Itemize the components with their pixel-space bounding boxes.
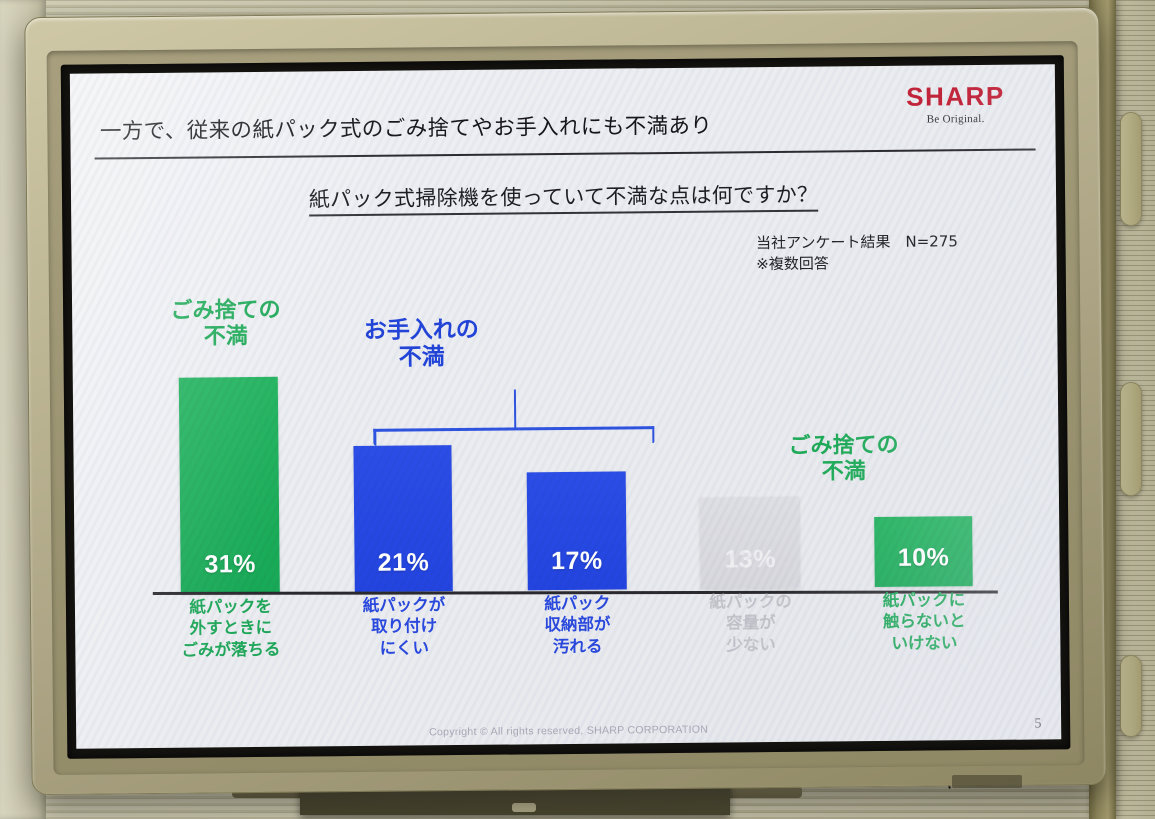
category-label-2-line1: 紙パックが bbox=[317, 594, 491, 617]
category-label-4-line1: 紙パックの bbox=[664, 591, 838, 614]
category-label-4-line2: 容量が bbox=[664, 612, 838, 635]
category-label-3: 紙パック収納部が汚れる bbox=[491, 592, 665, 657]
bar-2[interactable]: 21% bbox=[353, 445, 453, 592]
bar-column-5: 10% bbox=[835, 335, 1011, 588]
copyright-text: Copyright © All rights reserved, SHARP C… bbox=[76, 721, 1061, 742]
category-label-5: 紙パックに触らないといけない bbox=[837, 589, 1011, 654]
category-label-4-line3: 少ない bbox=[664, 633, 838, 656]
bar-chart: 31%21%17%13%10% 紙パックを外すときにごみが落ちる紙パックが取り付… bbox=[141, 335, 1011, 667]
survey-question: 紙パック式掃除機を使っていて不満な点は何ですか？ bbox=[71, 176, 1056, 215]
annotation-left-line1: ごみ捨ての bbox=[171, 298, 281, 325]
page-number: 5 bbox=[1034, 717, 1041, 733]
slide-content: SHARP Be Original. 一方で、従来の紙パック式のごみ捨てやお手入… bbox=[70, 64, 1061, 748]
survey-question-text: 紙パック式掃除機を使っていて不満な点は何ですか？ bbox=[309, 183, 819, 217]
presentation-display: SHARP Be Original. 一方で、従来の紙パック式のごみ捨てやお手入… bbox=[24, 7, 1106, 795]
sharp-logo: SHARP Be Original. bbox=[880, 81, 1030, 126]
bar-column-4: 13% bbox=[661, 336, 837, 589]
bar-3[interactable]: 17% bbox=[527, 471, 627, 591]
category-label-1: 紙パックを外すときにごみが落ちる bbox=[144, 596, 318, 661]
bar-value-label-3: 17% bbox=[551, 547, 603, 590]
title-divider bbox=[94, 148, 1036, 159]
slide-screen: SHARP Be Original. 一方で、従来の紙パック式のごみ捨てやお手入… bbox=[70, 64, 1061, 748]
bar-column-3: 17% bbox=[488, 338, 664, 591]
window-handle-icon bbox=[1120, 382, 1142, 496]
category-label-5-line3: いけない bbox=[838, 631, 1012, 654]
bar-column-1: 31% bbox=[141, 341, 317, 594]
category-label-3-line3: 汚れる bbox=[491, 635, 665, 658]
bar-4[interactable]: 13% bbox=[700, 497, 800, 589]
category-label-5-line1: 紙パックに bbox=[837, 589, 1011, 612]
bar-value-label-4: 13% bbox=[724, 545, 776, 588]
slide-title-band: 一方で、従来の紙パック式のごみ捨てやお手入れにも不満あり bbox=[100, 107, 869, 145]
bar-column-2: 21% bbox=[315, 340, 491, 593]
bar-5[interactable]: 10% bbox=[874, 516, 973, 587]
category-label-1-line3: ごみが落ちる bbox=[144, 638, 318, 661]
category-label-5-line2: 触らないと bbox=[837, 610, 1011, 633]
category-label-4: 紙パックの容量が少ない bbox=[664, 591, 838, 656]
survey-note-line2: ※複数回答 bbox=[756, 253, 958, 276]
survey-note-line1: 当社アンケート結果 N=275 bbox=[756, 231, 958, 254]
survey-note: 当社アンケート結果 N=275 ※複数回答 bbox=[756, 231, 958, 276]
category-label-1-line1: 紙パックを bbox=[144, 596, 318, 619]
bar-1[interactable]: 31% bbox=[179, 377, 280, 594]
category-label-2-line3: にくい bbox=[318, 636, 492, 659]
tv-stand-port bbox=[512, 803, 536, 812]
category-label-3-line1: 紙パック bbox=[491, 592, 665, 615]
bar-value-label-2: 21% bbox=[378, 549, 430, 592]
category-label-2: 紙パックが取り付けにくい bbox=[317, 594, 491, 659]
window-handle-icon bbox=[1120, 112, 1142, 226]
category-label-group: 紙パックを外すときにごみが落ちる紙パックが取り付けにくい紙パック収納部が汚れる紙… bbox=[144, 589, 1011, 669]
bar-value-label-5: 10% bbox=[898, 544, 950, 587]
bar-group: 31%21%17%13%10% bbox=[141, 335, 1010, 594]
bar-value-label-1: 31% bbox=[204, 550, 256, 593]
category-label-1-line2: 外すときに bbox=[144, 617, 318, 640]
category-label-3-line2: 収納部が bbox=[491, 614, 665, 637]
window-handle-icon bbox=[1120, 655, 1142, 737]
category-label-2-line2: 取り付け bbox=[317, 615, 491, 638]
tv-brand-plate bbox=[952, 775, 1022, 788]
sharp-tagline: Be Original. bbox=[881, 113, 1031, 126]
sharp-wordmark: SHARP bbox=[880, 81, 1030, 113]
page-title: 一方で、従来の紙パック式のごみ捨てやお手入れにも不満あり bbox=[100, 107, 869, 145]
